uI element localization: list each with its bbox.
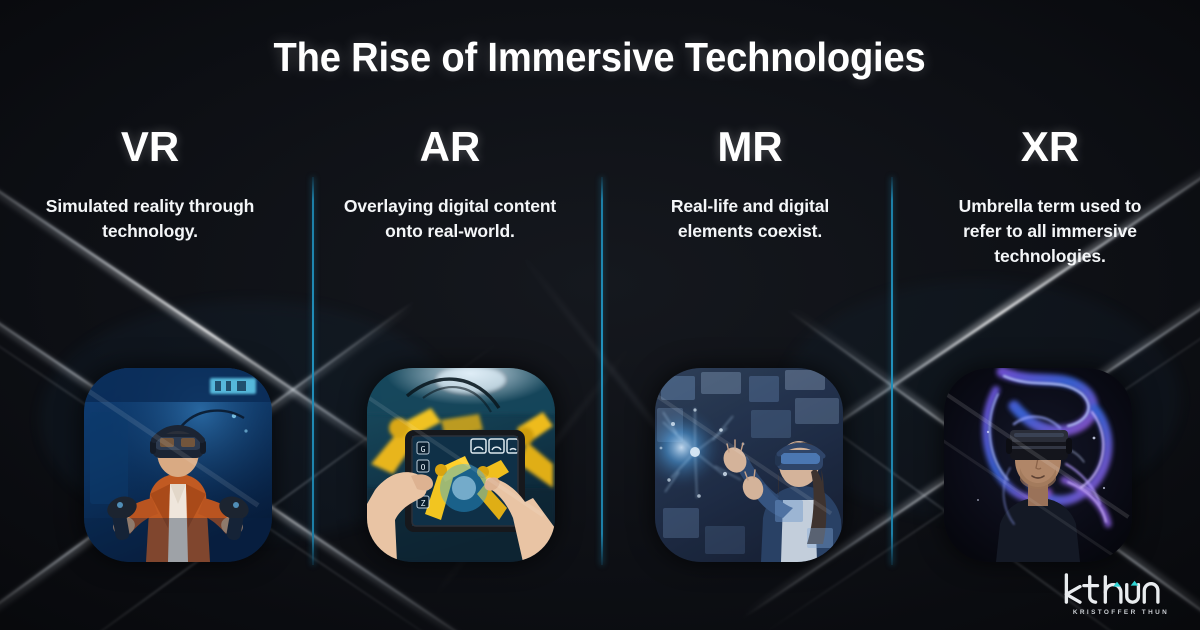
columns-container: VR Simulated reality through technology.… [0, 0, 1200, 630]
column-mr: MR Real-life and digital elements coexis… [600, 0, 900, 630]
column-heading-ar: AR [420, 126, 481, 168]
column-description-mr: Real-life and digital elements coexist. [646, 194, 854, 244]
logo-subtitle: KRISTOFFER THUN [1058, 609, 1182, 616]
column-xr: XR Umbrella term used to refer to all im… [900, 0, 1200, 630]
column-divider-1 [312, 177, 314, 565]
column-heading-mr: MR [717, 126, 782, 168]
title-container: The Rise of Immersive Technologies [0, 34, 1200, 81]
page-title: The Rise of Immersive Technologies [274, 34, 926, 81]
column-ar: AR Overlaying digital content onto real-… [300, 0, 600, 630]
column-heading-vr: VR [121, 126, 179, 168]
column-description-vr: Simulated reality through technology. [43, 194, 258, 244]
column-description-ar: Overlaying digital content onto real-wor… [343, 194, 558, 244]
column-vr: VR Simulated reality through technology. [0, 0, 300, 630]
column-description-xr: Umbrella term used to refer to all immer… [947, 194, 1153, 269]
kthun-logo-icon [1058, 571, 1176, 608]
column-heading-xr: XR [1021, 126, 1079, 168]
column-divider-2 [601, 177, 603, 565]
column-divider-3 [891, 177, 893, 565]
brand-logo: KRISTOFFER THUN [1058, 571, 1182, 616]
